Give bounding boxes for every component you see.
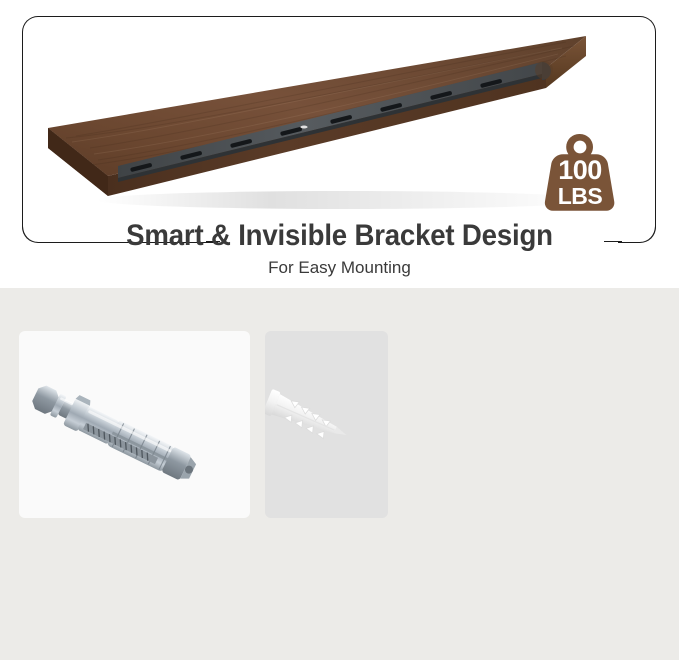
black-iron-rod-icon: [385, 618, 679, 660]
plastic-anchor-photo-panel: [265, 331, 388, 518]
weight-badge-number: 100: [534, 157, 626, 185]
bottom-section: Upgrade Metal Anchors heavy-duty: [0, 288, 679, 660]
wooden-shelf-with-hidden-bracket-icon: [46, 8, 606, 213]
weight-badge-icon: 100 LBS: [534, 128, 626, 220]
weight-badge-text: 100 LBS: [534, 148, 626, 208]
top-section: 100 LBS Smart & Invisible Bracket Design…: [0, 0, 679, 288]
page-subheadline: For Easy Mounting: [0, 258, 679, 278]
product-infographic: 100 LBS Smart & Invisible Bracket Design…: [0, 0, 679, 660]
metal-anchor-photo-panel: [19, 331, 250, 518]
page-headline: Smart & Invisible Bracket Design: [27, 219, 652, 253]
weight-badge-unit: LBS: [534, 185, 626, 208]
